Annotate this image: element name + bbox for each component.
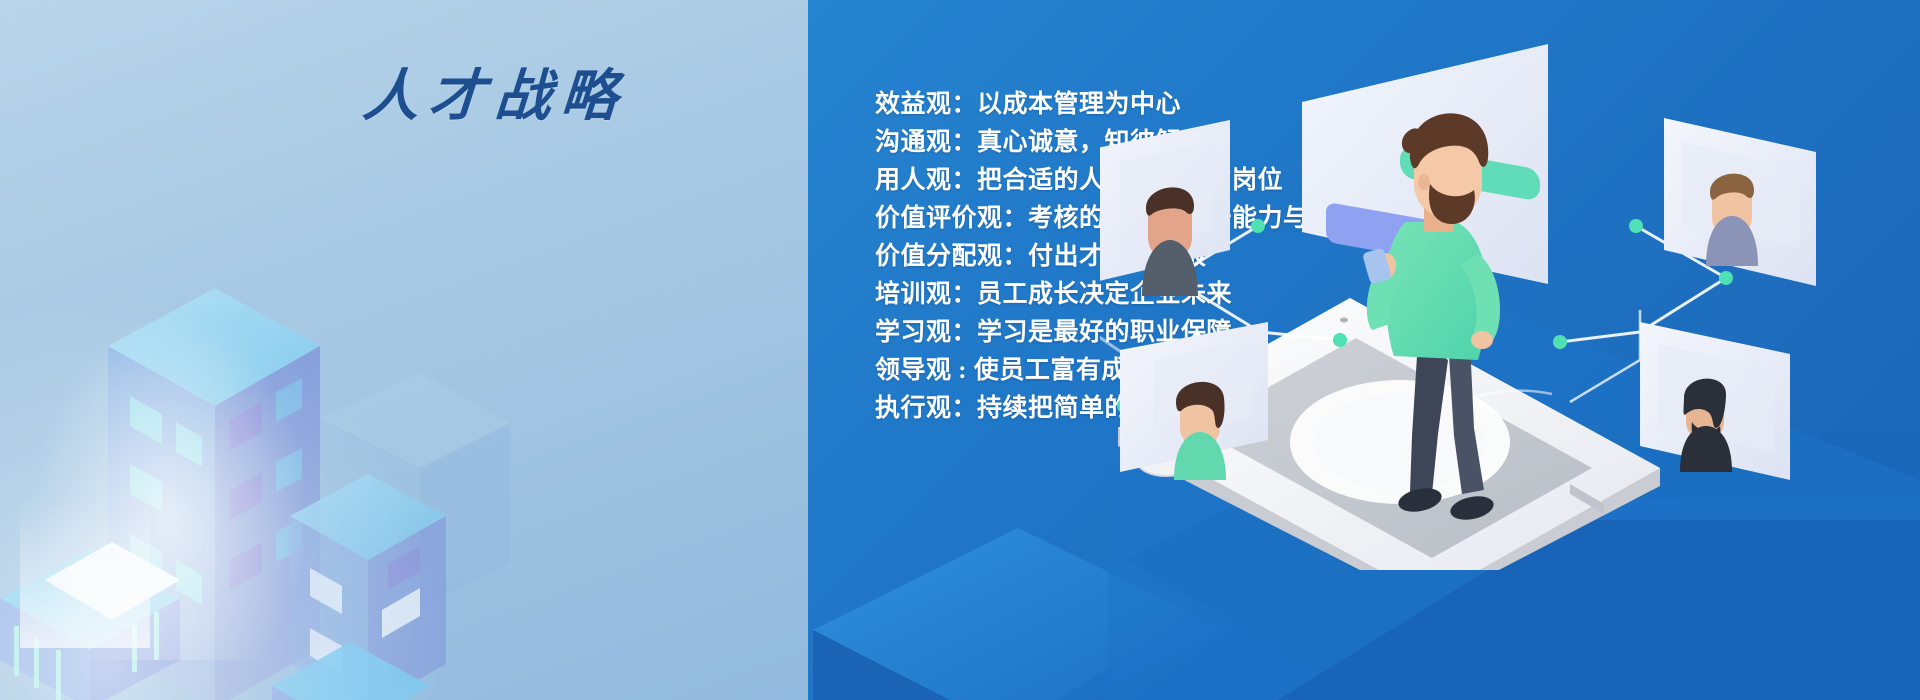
page-title: 人才战略 (353, 68, 637, 127)
isometric-city-illustration (0, 268, 510, 700)
avatar-card-bottom-right (1640, 322, 1790, 480)
avatar-card-top-right (1664, 118, 1816, 286)
slide-canvas: 人才战略 效益观 (0, 0, 1920, 700)
avatar-card-top-left (1100, 120, 1230, 296)
isometric-team-communication-illustration (1100, 10, 1920, 570)
left-panel: 人才战略 (0, 0, 808, 700)
